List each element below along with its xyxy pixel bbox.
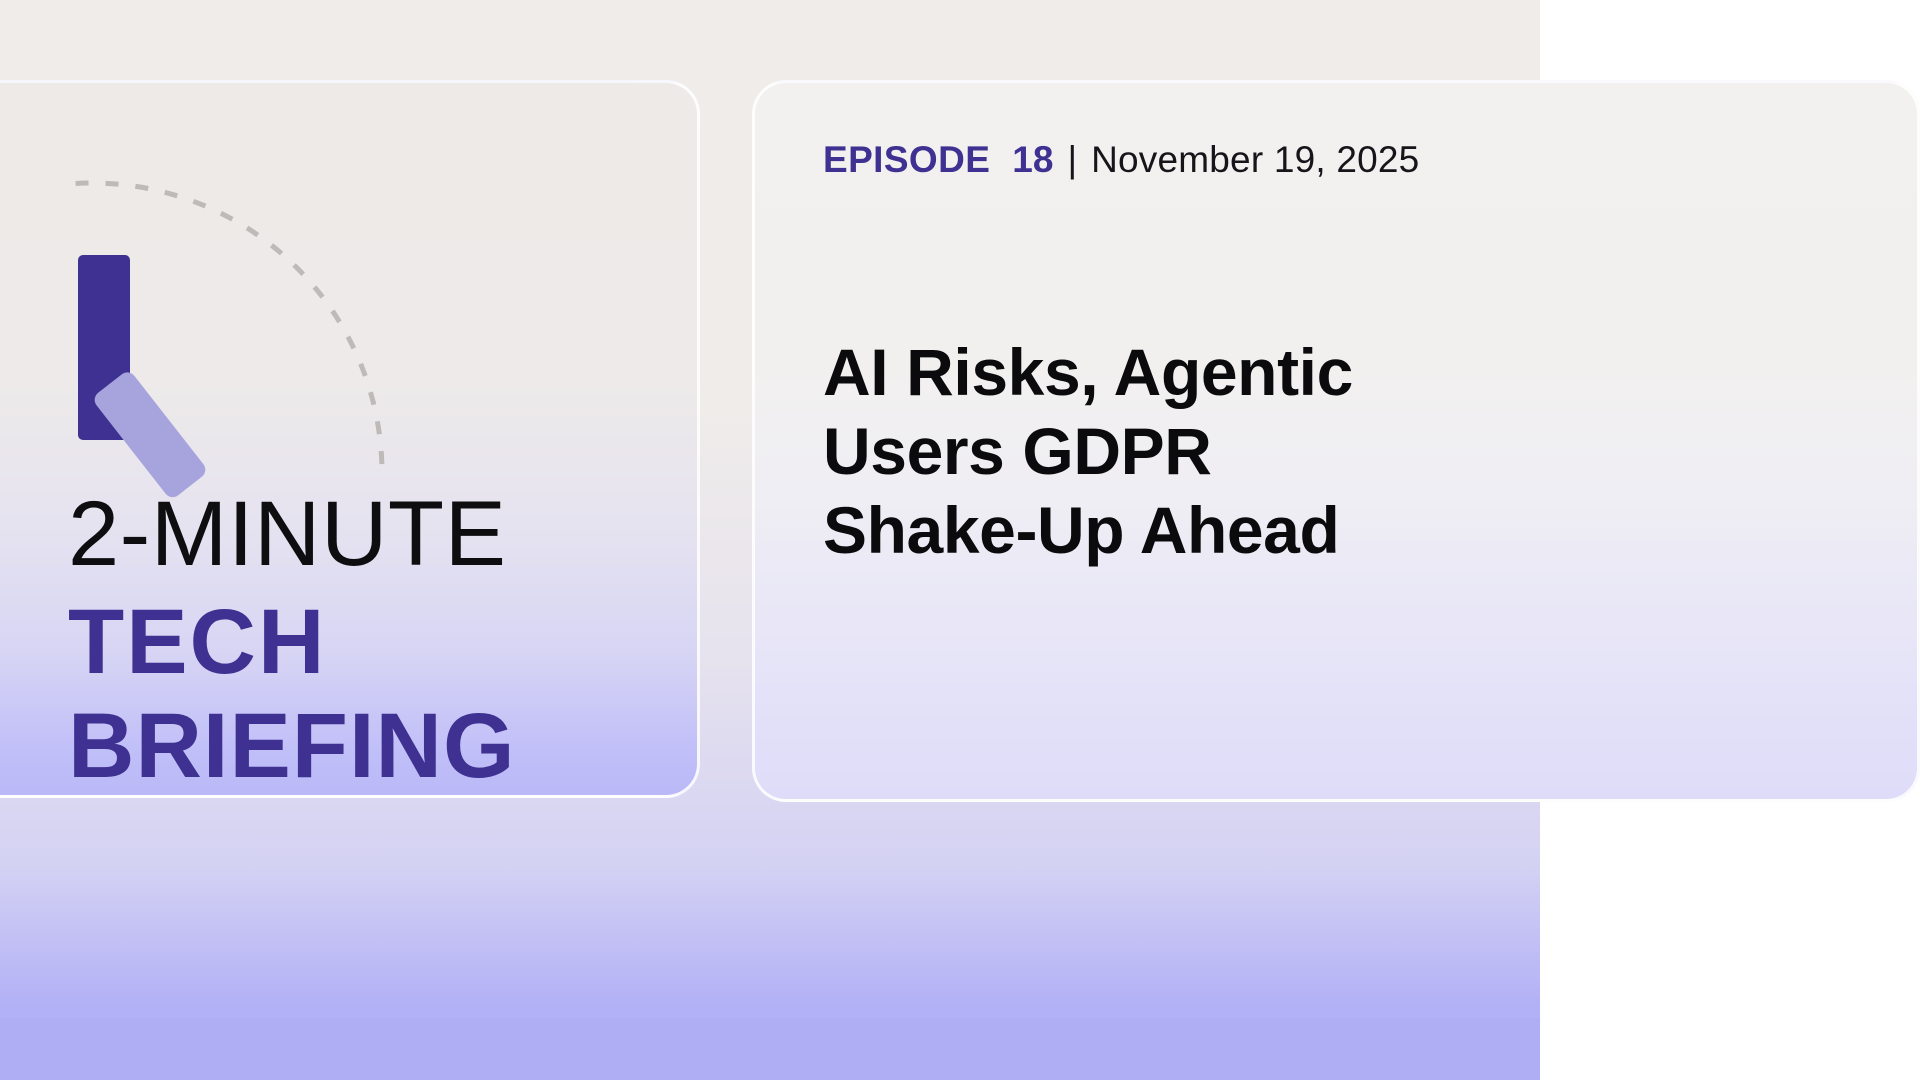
wordmark-line-2: TECH [68,596,668,688]
clock-icon [70,133,410,463]
headline-line-3: Shake-Up Ahead [823,491,1833,570]
wordmark-line-1: 2-MINUTE [68,488,668,582]
episode-separator: | [1067,139,1077,181]
episode-number: 18 [1012,139,1053,181]
headline-line-1: AI Risks, Agentic [823,333,1833,412]
episode-meta: EPISODE 18 | November 19, 2025 [823,139,1419,181]
episode-date: November 19, 2025 [1091,139,1419,181]
wordmark-line-3: BRIEFING [68,700,668,792]
episode-headline: AI Risks, Agentic Users GDPR Shake-Up Ah… [823,333,1833,571]
brand-card: 2-MINUTE TECH BRIEFING [0,80,700,798]
bottom-accent-band [0,1018,1540,1080]
headline-line-2: Users GDPR [823,412,1833,491]
episode-card: EPISODE 18 | November 19, 2025 AI Risks,… [752,80,1920,802]
slide-canvas: 2-MINUTE TECH BRIEFING EPISODE 18 | Nove… [0,0,1920,1080]
episode-label: EPISODE [823,139,990,181]
brand-wordmark: 2-MINUTE TECH BRIEFING [68,488,668,792]
